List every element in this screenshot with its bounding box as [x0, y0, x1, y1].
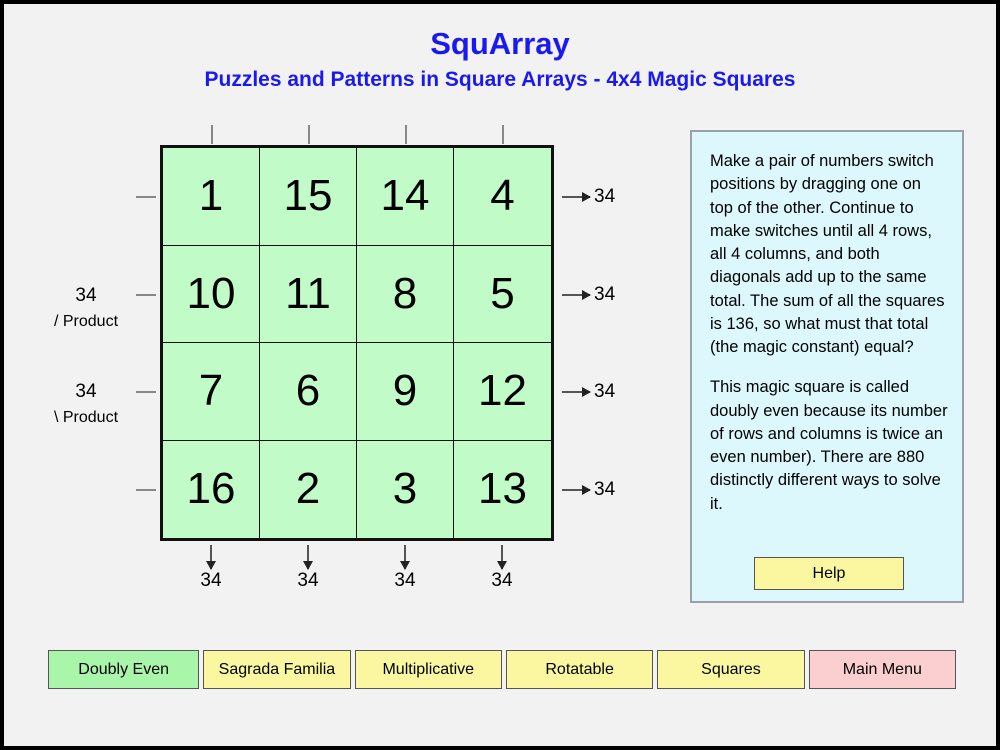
row-sum-value: 34 [594, 381, 615, 403]
row-tick-1 [136, 196, 156, 198]
row-sum-2: 34 [562, 285, 615, 305]
bottom-navigation-bar: Doubly EvenSagrada FamiliaMultiplicative… [48, 650, 960, 689]
diagonal-sum-forward: 34 / Product [26, 282, 146, 333]
magic-square-grid[interactable]: 11514410118576912162313 [160, 145, 554, 541]
row-sum-value: 34 [594, 479, 615, 501]
page-title: SquArray [4, 26, 996, 62]
grid-cell-r3-c3[interactable]: 9 [357, 343, 454, 441]
grid-cell-r4-c1[interactable]: 16 [163, 441, 260, 539]
column-sum-value: 34 [181, 570, 241, 592]
grid-cell-r2-c2[interactable]: 11 [260, 246, 357, 344]
arrow-right-icon [562, 489, 590, 491]
grid-cell-r4-c3[interactable]: 3 [357, 441, 454, 539]
arrow-right-icon [562, 196, 590, 198]
row-sum-value: 34 [594, 186, 615, 208]
column-tick-3 [405, 125, 407, 144]
nav-button-doubly-even[interactable]: Doubly Even [48, 650, 199, 689]
grid-cell-r3-c1[interactable]: 7 [163, 343, 260, 441]
column-tick-2 [308, 125, 310, 144]
column-sum-value: 34 [375, 570, 435, 592]
help-button[interactable]: Help [754, 557, 904, 590]
grid-cell-r2-c3[interactable]: 8 [357, 246, 454, 344]
info-text: Make a pair of numbers switch positions … [710, 150, 948, 533]
column-tick-4 [502, 125, 504, 144]
nav-button-multiplicative[interactable]: Multiplicative [355, 650, 502, 689]
grid-cell-r1-c4[interactable]: 4 [454, 148, 551, 246]
column-sum-2: 34 [278, 545, 338, 592]
nav-button-sagrada-familia[interactable]: Sagrada Familia [203, 650, 350, 689]
row-tick-4 [136, 489, 156, 491]
grid-cell-r3-c4[interactable]: 12 [454, 343, 551, 441]
arrow-down-icon [307, 545, 309, 569]
row-sum-4: 34 [562, 480, 615, 500]
grid-cell-r1-c1[interactable]: 1 [163, 148, 260, 246]
column-sum-4: 34 [472, 545, 532, 592]
diagonal-backward-label: \ Product [26, 406, 146, 429]
info-paragraph-2: This magic square is called doubly even … [710, 376, 948, 516]
app-window: SquArray Puzzles and Patterns in Square … [4, 4, 996, 746]
nav-button-rotatable[interactable]: Rotatable [506, 650, 653, 689]
info-paragraph-1: Make a pair of numbers switch positions … [710, 150, 948, 359]
arrow-down-icon [404, 545, 406, 569]
grid-cell-r2-c4[interactable]: 5 [454, 246, 551, 344]
arrow-down-icon [210, 545, 212, 569]
grid-cell-r1-c2[interactable]: 15 [260, 148, 357, 246]
column-sum-value: 34 [278, 570, 338, 592]
diagonal-forward-value: 34 [26, 282, 146, 310]
row-sum-value: 34 [594, 284, 615, 306]
arrow-right-icon [562, 391, 590, 393]
row-sum-3: 34 [562, 382, 615, 402]
column-sum-value: 34 [472, 570, 532, 592]
grid-cell-r2-c1[interactable]: 10 [163, 246, 260, 344]
row-sum-1: 34 [562, 187, 615, 207]
magic-square-area: 11514410118576912162313 34343434 3434343… [160, 145, 554, 541]
diagonal-backward-value: 34 [26, 378, 146, 406]
arrow-right-icon [562, 294, 590, 296]
arrow-down-icon [501, 545, 503, 569]
nav-button-squares[interactable]: Squares [657, 650, 804, 689]
diagonal-sum-backward: 34 \ Product [26, 378, 146, 429]
nav-button-main-menu[interactable]: Main Menu [809, 650, 956, 689]
info-panel: Make a pair of numbers switch positions … [690, 130, 964, 603]
grid-cell-r3-c2[interactable]: 6 [260, 343, 357, 441]
grid-cell-r4-c2[interactable]: 2 [260, 441, 357, 539]
grid-cell-r1-c3[interactable]: 14 [357, 148, 454, 246]
column-tick-1 [211, 125, 213, 144]
column-sum-1: 34 [181, 545, 241, 592]
diagonal-forward-label: / Product [26, 310, 146, 333]
column-sum-3: 34 [375, 545, 435, 592]
grid-cell-r4-c4[interactable]: 13 [454, 441, 551, 539]
page-subtitle: Puzzles and Patterns in Square Arrays - … [4, 68, 996, 92]
